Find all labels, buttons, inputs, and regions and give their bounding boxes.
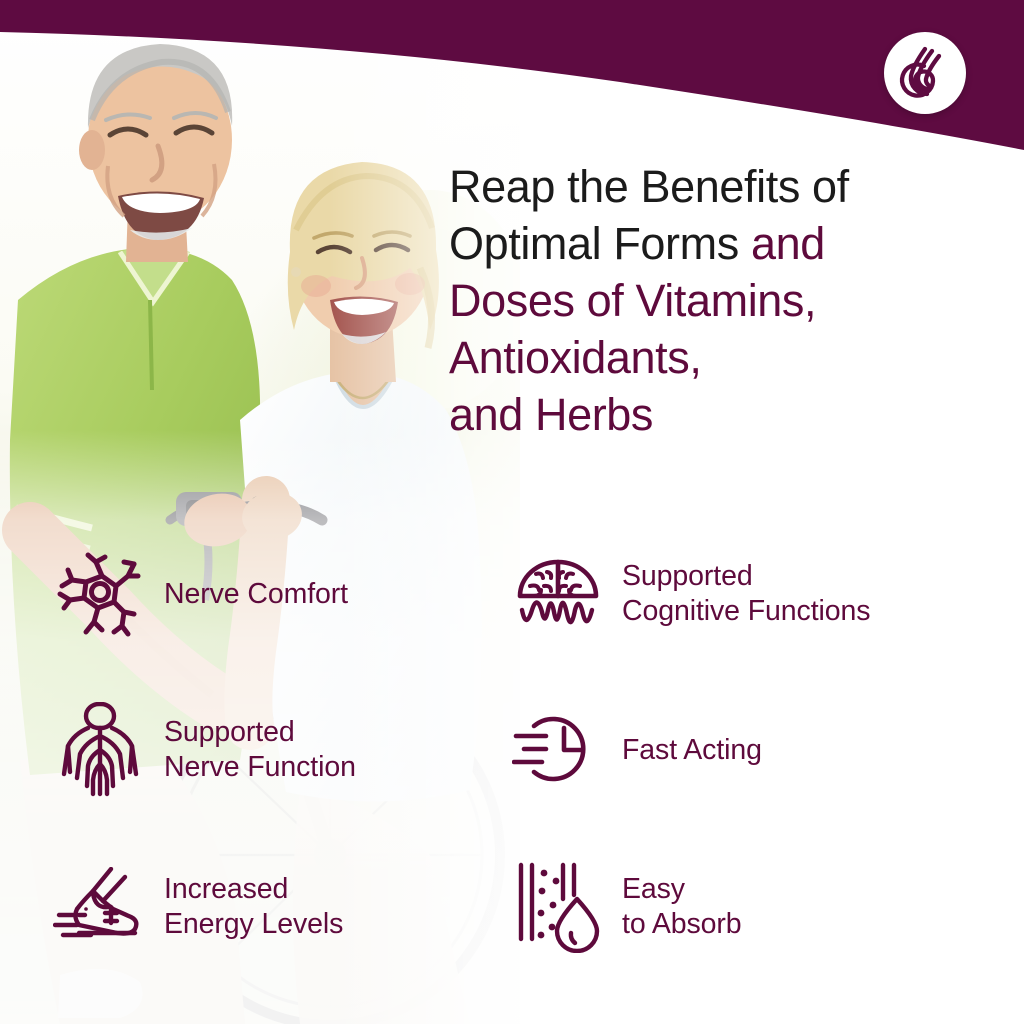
running-shoe-icon: [52, 859, 148, 955]
benefit-energy-levels: Increased Energy Levels: [52, 828, 510, 986]
benefits-grid: Nerve Comfort: [52, 516, 996, 986]
headline-line-4: Antioxidants,: [449, 332, 701, 383]
headline-line-2-accent: and: [751, 218, 825, 269]
benefit-label: Increased Energy Levels: [164, 872, 343, 942]
promo-graphic: Reap the Benefits of Optimal Forms and D…: [0, 0, 1024, 1024]
neuron-icon: [52, 546, 148, 642]
headline-line-1: Reap the Benefits of: [449, 161, 849, 212]
headline-line-5: and Herbs: [449, 389, 653, 440]
brand-logo: [884, 32, 966, 114]
spiral-leaf-logo-icon: [897, 44, 953, 102]
clock-speed-icon: [510, 702, 606, 798]
benefit-label: Supported Nerve Function: [164, 715, 356, 785]
headline-line-3: Doses of Vitamins,: [449, 275, 816, 326]
nervous-system-icon: [52, 702, 148, 798]
benefit-label: Easy to Absorb: [622, 872, 742, 942]
water-droplet-icon: [510, 859, 606, 955]
brain-waves-icon: [510, 546, 606, 642]
benefit-label: Nerve Comfort: [164, 577, 348, 612]
benefit-fast-acting: Fast Acting: [510, 672, 996, 828]
benefit-nerve-comfort: Nerve Comfort: [52, 516, 510, 672]
benefit-label: Supported Cognitive Functions: [622, 559, 870, 629]
page-title: Reap the Benefits of Optimal Forms and D…: [449, 158, 994, 443]
benefit-cognitive-functions: Supported Cognitive Functions: [510, 516, 996, 672]
benefit-nerve-function: Supported Nerve Function: [52, 672, 510, 828]
headline-line-2: Optimal Forms: [449, 218, 751, 269]
benefit-easy-absorb: Easy to Absorb: [510, 828, 996, 986]
benefit-label: Fast Acting: [622, 733, 762, 768]
